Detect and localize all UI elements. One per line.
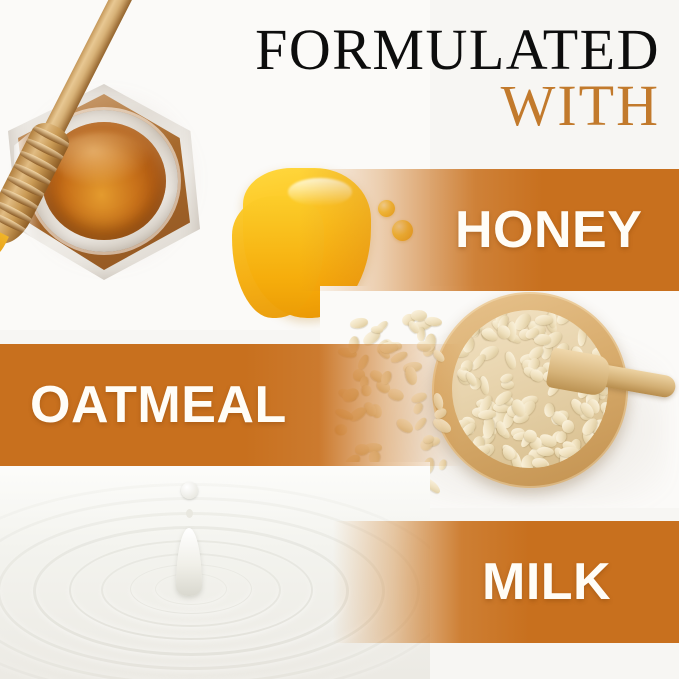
ingredient-label-milk: MILK [482,552,611,612]
milk-mini-droplet [186,509,193,518]
ingredient-band-honey: HONEY [0,169,679,291]
ingredient-label-honey: HONEY [455,200,642,260]
headline-line-1: FORMULATED [200,22,660,78]
product-ingredient-poster: FORMULATED WITH HONEY OATMEAL MILK [0,0,679,679]
oat-flake [554,310,575,327]
ingredient-label-oatmeal: OATMEAL [30,375,287,435]
milk-droplet-ball [181,482,198,499]
ingredient-band-milk: MILK [0,521,679,643]
page-title: FORMULATED WITH [200,22,660,133]
headline-line-2: WITH [200,78,660,134]
ingredient-band-oatmeal: OATMEAL [0,344,679,466]
